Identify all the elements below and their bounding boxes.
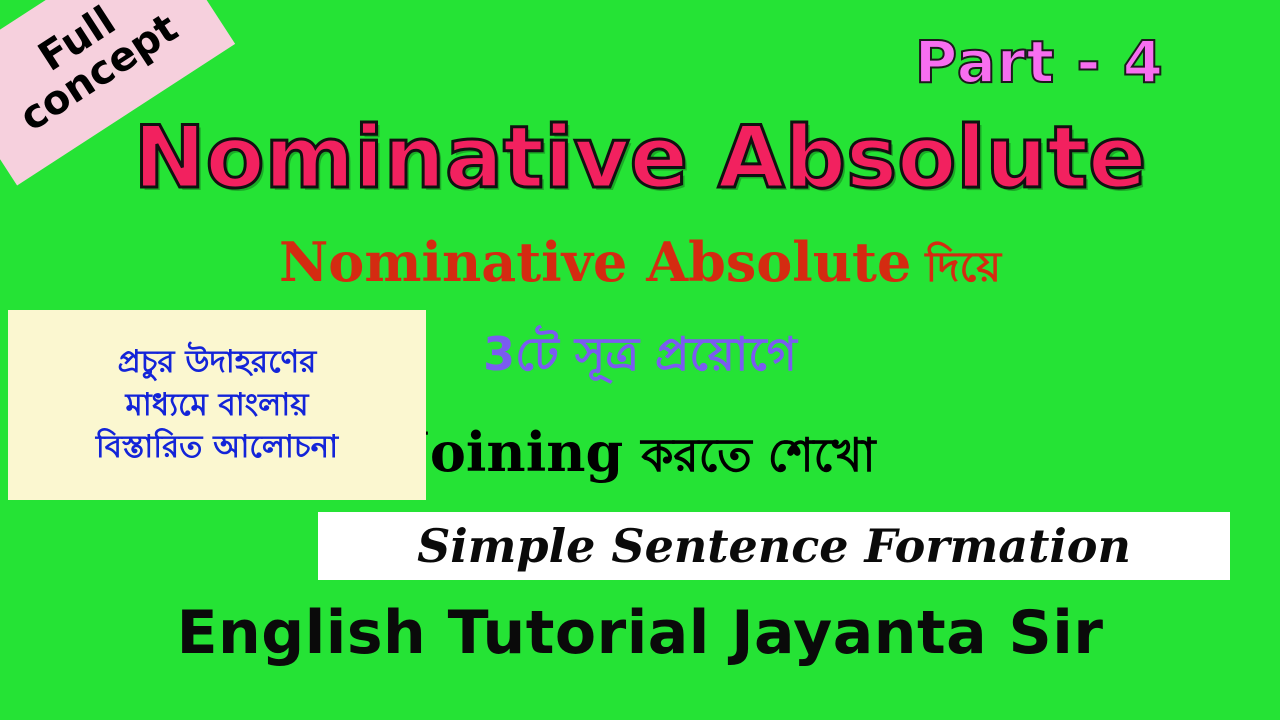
blue-bangla-line: 3টে সূত্র প্রয়োগে xyxy=(483,320,797,396)
yellow-box-line-3: বিস্তারিত আলোচনা xyxy=(96,428,338,467)
page-title: Nominative Absolute xyxy=(134,108,1147,208)
joining-english: Joining xyxy=(404,420,623,484)
yellow-box-line-2: মাধ্যমে বাংলায় xyxy=(126,386,309,425)
subtitle-red-line: Nominative Absolute দিয়ে xyxy=(279,230,1001,305)
channel-name: English Tutorial Jayanta Sir xyxy=(177,598,1104,668)
yellow-info-box: প্রচুর উদাহরণের মাধ্যমে বাংলায় বিস্তারিত… xyxy=(8,310,426,500)
white-banner: Simple Sentence Formation xyxy=(318,512,1230,580)
joining-line: Joining করতে শেখো xyxy=(404,420,875,497)
yellow-box-line-1: প্রচুর উদাহরণের xyxy=(118,343,317,382)
thumbnail-canvas: Full concept Part - 4 Nominative Absolut… xyxy=(0,0,1280,720)
part-label: Part - 4 xyxy=(915,28,1164,96)
subtitle-red-english: Nominative Absolute xyxy=(279,230,911,294)
joining-bangla: করতে শেখো xyxy=(641,421,875,497)
subtitle-red-bangla: দিয়ে xyxy=(925,234,1001,305)
white-banner-text: Simple Sentence Formation xyxy=(417,519,1131,573)
